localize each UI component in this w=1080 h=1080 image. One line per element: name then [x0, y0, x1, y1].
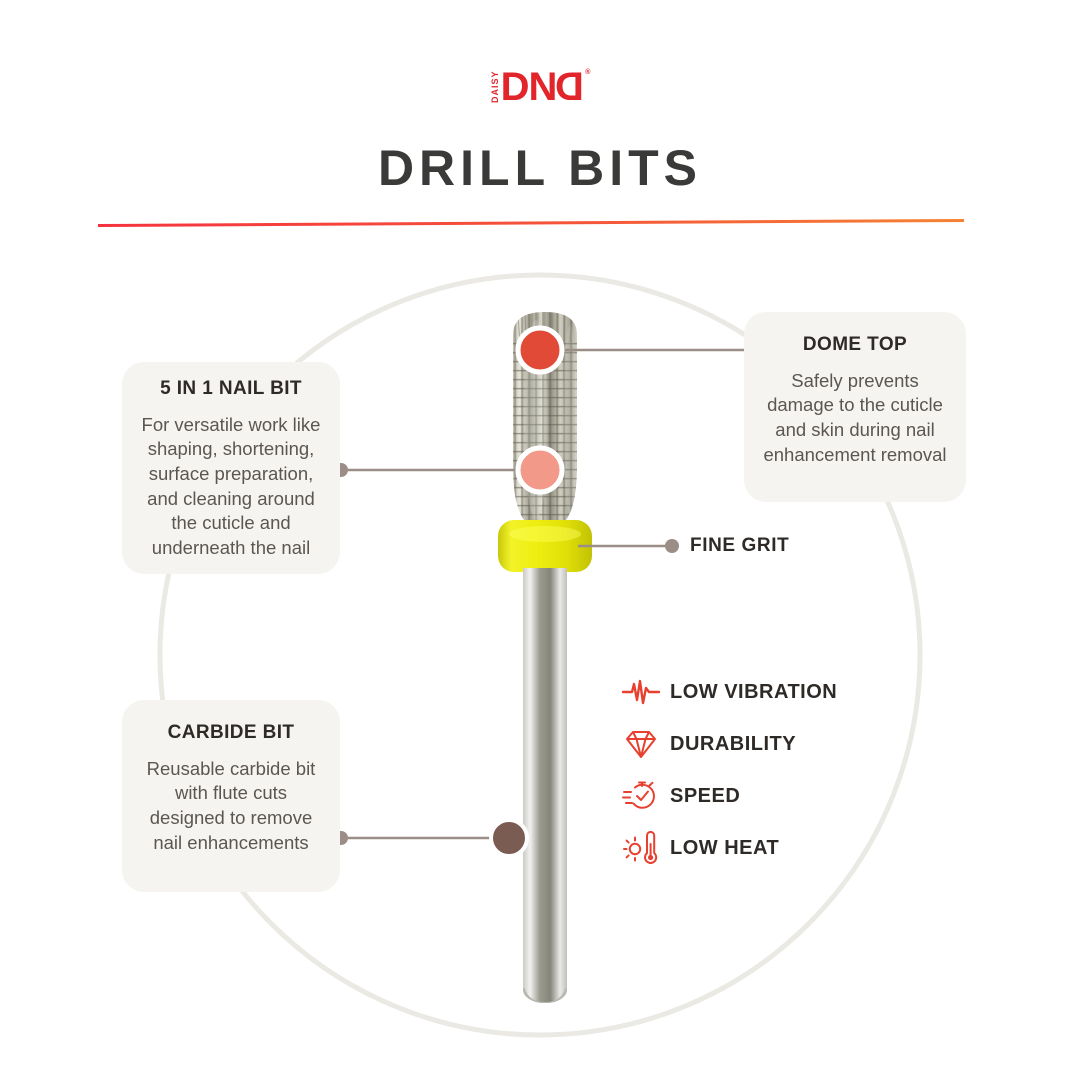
marker-5in1 [518, 448, 562, 492]
diamond-icon [618, 726, 664, 762]
feature-label-low-heat: LOW HEAT [670, 837, 779, 860]
feature-label-low-vibration: LOW VIBRATION [670, 681, 837, 704]
thermometer-sun-icon [618, 830, 664, 866]
feature-item-speed[interactable]: SPEED [618, 770, 938, 822]
callout-body-dome: Safely prevents damage to the cuticle an… [758, 369, 952, 467]
feature-label-durability: DURABILITY [670, 733, 796, 756]
feature-item-low-vibration[interactable]: LOW VIBRATION [618, 666, 938, 718]
label-fine-grit: FINE GRIT [690, 535, 789, 557]
stopwatch-icon [618, 778, 664, 814]
connector-dot-fine-grit [665, 539, 679, 553]
callout-carbide-bit[interactable]: CARBIDE BIT Reusable carbide bit with fl… [122, 700, 340, 892]
feature-list: LOW VIBRATION DURABILITY [618, 666, 938, 874]
infographic-canvas: DAISY DND® DRILL BITS [0, 0, 1080, 1080]
callout-dome-top[interactable]: DOME TOP Safely prevents damage to the c… [744, 312, 966, 502]
marker-carbide [491, 820, 527, 856]
callout-heading-carbide: CARBIDE BIT [136, 722, 326, 745]
feature-item-durability[interactable]: DURABILITY [618, 718, 938, 770]
callout-body-5in1: For versatile work like shaping, shorten… [136, 413, 326, 561]
feature-item-low-heat[interactable]: LOW HEAT [618, 822, 938, 874]
callout-heading-5in1: 5 IN 1 NAIL BIT [136, 378, 326, 401]
feature-label-speed: SPEED [670, 785, 740, 808]
callout-5-in-1-nail-bit[interactable]: 5 IN 1 NAIL BIT For versatile work like … [122, 362, 340, 574]
pulse-wave-icon [618, 674, 664, 710]
callout-heading-dome: DOME TOP [758, 334, 952, 357]
callout-body-carbide: Reusable carbide bit with flute cuts des… [136, 757, 326, 855]
marker-dome-top [518, 328, 562, 372]
